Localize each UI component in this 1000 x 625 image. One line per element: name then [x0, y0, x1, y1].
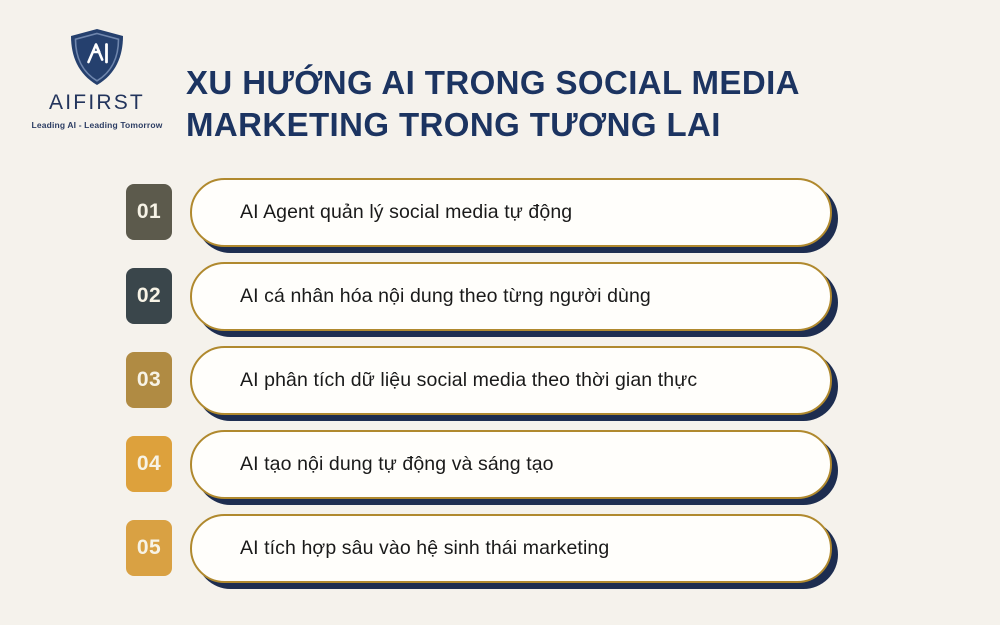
item-number-badge: 04	[126, 436, 172, 492]
page-title-line-1: XU HƯỚNG AI TRONG SOCIAL MEDIA	[186, 62, 826, 104]
list-item: 05 AI tích hợp sâu vào hệ sinh thái mark…	[126, 514, 832, 583]
item-number-badge: 03	[126, 352, 172, 408]
item-pill: AI tạo nội dung tự động và sáng tạo	[190, 430, 832, 499]
item-label: AI Agent quản lý social media tự động	[240, 201, 572, 224]
brand-tagline: Leading AI - Leading Tomorrow	[22, 120, 172, 130]
item-pill: AI tích hợp sâu vào hệ sinh thái marketi…	[190, 514, 832, 583]
pill-body: AI phân tích dữ liệu social media theo t…	[190, 346, 832, 415]
pill-body: AI tạo nội dung tự động và sáng tạo	[190, 430, 832, 499]
page-title: XU HƯỚNG AI TRONG SOCIAL MEDIA MARKETING…	[186, 62, 826, 146]
pill-body: AI tích hợp sâu vào hệ sinh thái marketi…	[190, 514, 832, 583]
item-pill: AI Agent quản lý social media tự động	[190, 178, 832, 247]
item-pill: AI phân tích dữ liệu social media theo t…	[190, 346, 832, 415]
item-number-badge: 05	[126, 520, 172, 576]
list-item: 04 AI tạo nội dung tự động và sáng tạo	[126, 430, 832, 499]
item-pill: AI cá nhân hóa nội dung theo từng người …	[190, 262, 832, 331]
item-label: AI tạo nội dung tự động và sáng tạo	[240, 453, 554, 476]
pill-body: AI cá nhân hóa nội dung theo từng người …	[190, 262, 832, 331]
page-title-line-2: MARKETING TRONG TƯƠNG LAI	[186, 104, 826, 146]
shield-ai-icon	[66, 26, 128, 88]
list-item: 02 AI cá nhân hóa nội dung theo từng ngư…	[126, 262, 832, 331]
pill-body: AI Agent quản lý social media tự động	[190, 178, 832, 247]
item-label: AI phân tích dữ liệu social media theo t…	[240, 369, 697, 392]
item-label: AI tích hợp sâu vào hệ sinh thái marketi…	[240, 537, 609, 560]
item-number-badge: 02	[126, 268, 172, 324]
item-label: AI cá nhân hóa nội dung theo từng người …	[240, 285, 651, 308]
brand-logo: AIFIRST Leading AI - Leading Tomorrow	[22, 24, 172, 130]
list-item: 03 AI phân tích dữ liệu social media the…	[126, 346, 832, 415]
brand-wordmark: AIFIRST	[22, 92, 172, 113]
trend-list: 01 AI Agent quản lý social media tự động…	[126, 178, 832, 598]
list-item: 01 AI Agent quản lý social media tự động	[126, 178, 832, 247]
item-number-badge: 01	[126, 184, 172, 240]
